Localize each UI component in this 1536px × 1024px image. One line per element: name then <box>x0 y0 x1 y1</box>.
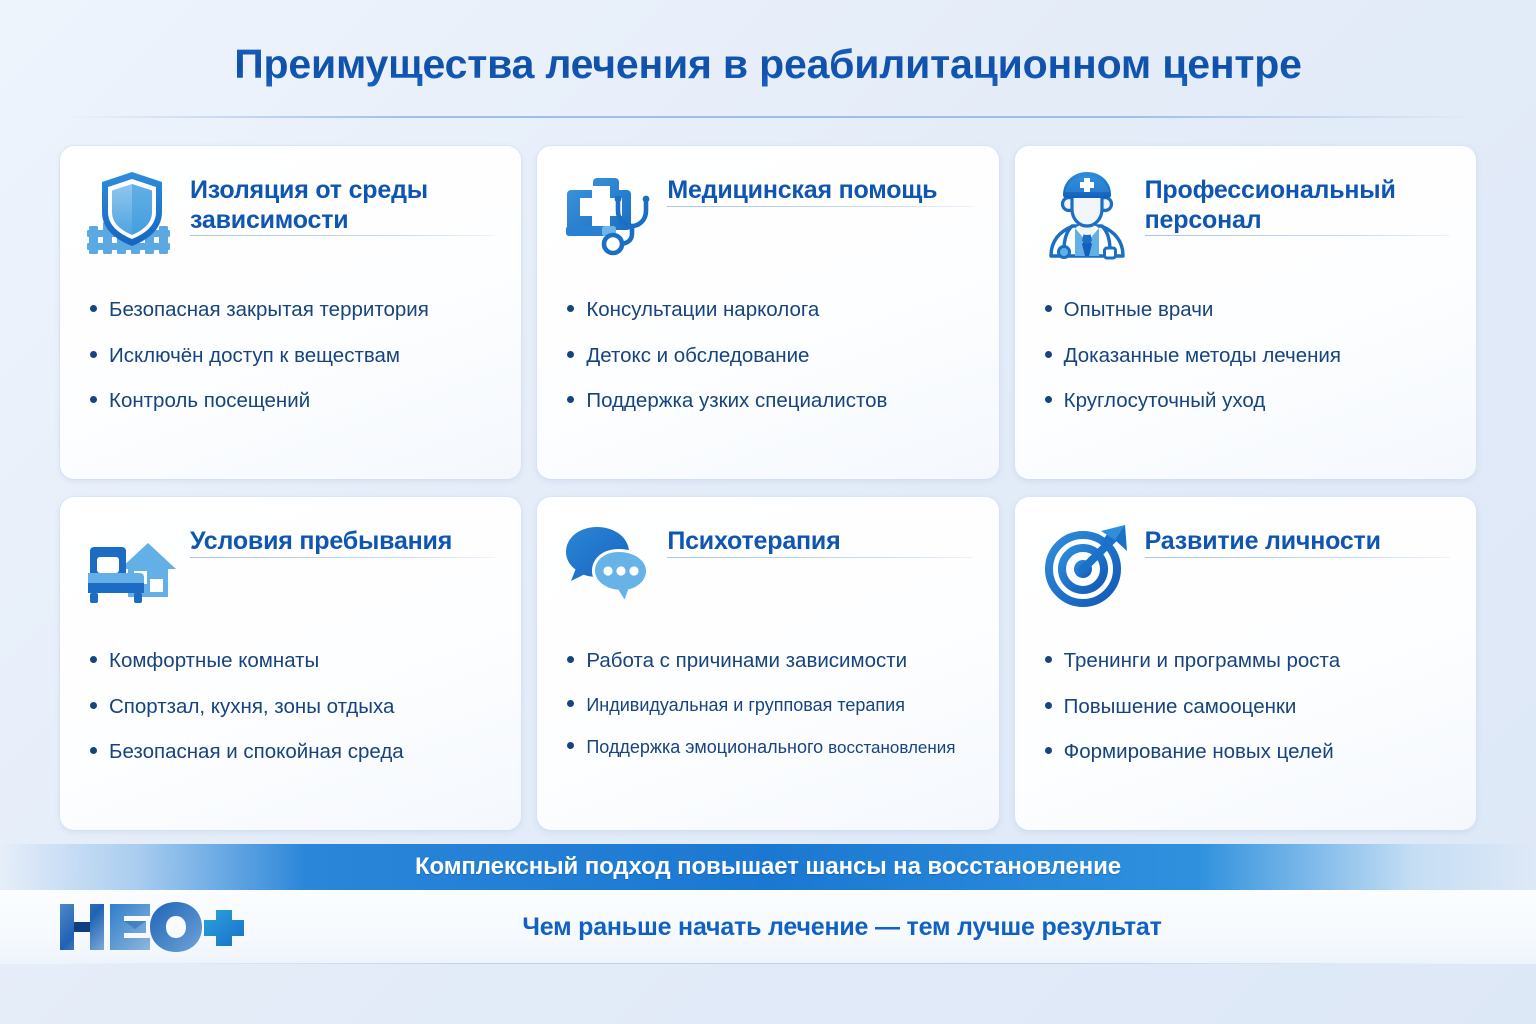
speech-bubbles-icon <box>563 519 655 611</box>
infographic-page: Преимущества лечения в реабилитационном … <box>0 0 1536 1024</box>
bullet-dot-icon <box>90 351 97 358</box>
list-item: Индивидуальная и групповая терапия <box>567 695 972 716</box>
card-divider <box>1145 235 1450 236</box>
card-title: Условия пребывания <box>190 527 495 557</box>
page-footer: Комплексный подход повышает шансы на вос… <box>0 838 1536 1024</box>
bullet-dot-icon <box>1045 351 1052 358</box>
card-title: Изоляция от среды зависимости <box>190 176 495 235</box>
card-title-wrap: Условия пребывания <box>190 519 495 558</box>
benefits-grid: Изоляция от среды зависимости Безопасная… <box>0 128 1536 838</box>
card-title: Развитие личности <box>1145 527 1450 557</box>
list-item-label: Доказанные методы лечения <box>1064 344 1341 368</box>
list-item: Комфортные комнаты <box>90 649 495 673</box>
card-title-wrap: Изоляция от среды зависимости <box>190 168 495 236</box>
card-title: Медицинская помощь <box>667 176 972 206</box>
card-title-wrap: Медицинская помощь <box>667 168 972 207</box>
list-item-label: Индивидуальная и групповая терапия <box>586 695 905 716</box>
list-item: Контроль посещений <box>90 389 495 413</box>
list-item: Поддержка узких специалистов <box>567 389 972 413</box>
page-header: Преимущества лечения в реабилитационном … <box>0 0 1536 128</box>
list-item-label-head: Поддержка эмоционального <box>586 737 828 757</box>
list-item: Консультации нарколога <box>567 298 972 322</box>
bullet-dot-icon <box>567 396 574 403</box>
list-item: Опытные врачи <box>1045 298 1450 322</box>
card-divider <box>667 557 972 558</box>
bullet-dot-icon <box>1045 702 1052 709</box>
bullet-dot-icon <box>567 742 574 749</box>
footer-body: Чем раньше начать лечение — тем лучше ре… <box>0 890 1536 964</box>
list-item: Безопасная закрытая территория <box>90 298 495 322</box>
footer-banner-text: Комплексный подход повышает шансы на вос… <box>415 853 1121 881</box>
benefit-card-personal-development[interactable]: Развитие личности Тренинги и программы р… <box>1015 497 1476 830</box>
doctor-icon <box>1041 168 1133 260</box>
list-item-label: Консультации нарколога <box>586 298 819 322</box>
benefit-list: Опытные врачи Доказанные методы лечения … <box>1041 272 1450 413</box>
bullet-dot-icon <box>1045 656 1052 663</box>
benefit-card-professional-staff[interactable]: Профессиональный персонал Опытные врачи … <box>1015 146 1476 479</box>
list-item: Круглосуточный уход <box>1045 389 1450 413</box>
page-title: Преимущества лечения в реабилитационном … <box>234 41 1302 88</box>
list-item: Детокс и обследование <box>567 344 972 368</box>
benefit-list: Тренинги и программы роста Повышение сам… <box>1041 623 1450 764</box>
card-header: Профессиональный персонал <box>1041 168 1450 272</box>
list-item-label: Безопасная закрытая территория <box>109 298 429 322</box>
bullet-dot-icon <box>567 656 574 663</box>
benefit-card-living-conditions[interactable]: Условия пребывания Комфортные комнаты Сп… <box>60 497 521 830</box>
bullet-dot-icon <box>567 305 574 312</box>
footer-banner: Комплексный подход повышает шансы на вос… <box>0 844 1536 890</box>
card-title: Психотерапия <box>667 527 972 557</box>
bullet-dot-icon <box>1045 396 1052 403</box>
card-header: Психотерапия <box>563 519 972 623</box>
list-item: Поддержка эмоционального восстановления <box>567 737 972 758</box>
list-item: Безопасная и спокойная среда <box>90 740 495 764</box>
bullet-dot-icon <box>90 305 97 312</box>
list-item-label: Формирование новых целей <box>1064 740 1334 764</box>
list-item-label: Контроль посещений <box>109 389 310 413</box>
benefit-list: Безопасная закрытая территория Исключён … <box>86 272 495 413</box>
list-item: Повышение самооценки <box>1045 695 1450 719</box>
footer-tagline: Чем раньше начать лечение — тем лучше ре… <box>196 913 1488 942</box>
list-item-label: Поддержка узких специалистов <box>586 389 887 413</box>
list-item: Спортзал, кухня, зоны отдыха <box>90 695 495 719</box>
list-item-label: Повышение самооценки <box>1064 695 1297 719</box>
header-divider <box>60 116 1476 118</box>
card-header: Изоляция от среды зависимости <box>86 168 495 272</box>
card-divider <box>667 206 972 207</box>
card-header: Условия пребывания <box>86 519 495 623</box>
card-title: Профессиональный персонал <box>1145 176 1450 235</box>
benefit-card-isolation[interactable]: Изоляция от среды зависимости Безопасная… <box>60 146 521 479</box>
list-item-label: Детокс и обследование <box>586 344 809 368</box>
list-item-label: Круглосуточный уход <box>1064 389 1266 413</box>
list-item: Доказанные методы лечения <box>1045 344 1450 368</box>
list-item: Исключён доступ к веществам <box>90 344 495 368</box>
list-item: Работа с причинами зависимости <box>567 649 972 673</box>
card-divider <box>190 557 495 558</box>
target-arrow-icon <box>1041 519 1133 611</box>
bullet-dot-icon <box>90 396 97 403</box>
card-title-wrap: Развитие личности <box>1145 519 1450 558</box>
list-item: Формирование новых целей <box>1045 740 1450 764</box>
list-item-label: Тренинги и программы роста <box>1064 649 1340 673</box>
list-item: Тренинги и программы роста <box>1045 649 1450 673</box>
list-item-label: Спортзал, кухня, зоны отдыха <box>109 695 394 719</box>
bullet-dot-icon <box>90 747 97 754</box>
bullet-dot-icon <box>567 700 574 707</box>
benefit-card-psychotherapy[interactable]: Психотерапия Работа с причинами зависимо… <box>537 497 998 830</box>
card-header: Медицинская помощь <box>563 168 972 272</box>
list-item-label-tail: восстановления <box>828 738 955 757</box>
card-title-wrap: Профессиональный персонал <box>1145 168 1450 236</box>
bullet-dot-icon <box>1045 747 1052 754</box>
card-divider <box>1145 557 1450 558</box>
bullet-dot-icon <box>1045 305 1052 312</box>
list-item-label: Опытные врачи <box>1064 298 1214 322</box>
benefit-card-medical-help[interactable]: Медицинская помощь Консультации нарколог… <box>537 146 998 479</box>
list-item-label: Безопасная и спокойная среда <box>109 740 404 764</box>
list-item-label: Работа с причинами зависимости <box>586 649 907 673</box>
bullet-dot-icon <box>90 656 97 663</box>
benefit-list: Комфортные комнаты Спортзал, кухня, зоны… <box>86 623 495 764</box>
card-title-wrap: Психотерапия <box>667 519 972 558</box>
list-item-label: Поддержка эмоционального восстановления <box>586 737 955 758</box>
bed-house-icon <box>86 519 178 611</box>
card-header: Развитие личности <box>1041 519 1450 623</box>
list-item-label: Комфортные комнаты <box>109 649 319 673</box>
benefit-list: Работа с причинами зависимости Индивидуа… <box>563 623 972 758</box>
benefit-list: Консультации нарколога Детокс и обследов… <box>563 272 972 413</box>
bullet-dot-icon <box>90 702 97 709</box>
shield-fence-icon <box>86 168 178 260</box>
card-divider <box>190 235 495 236</box>
medical-bag-stethoscope-icon <box>563 168 655 260</box>
bullet-dot-icon <box>567 351 574 358</box>
list-item-label: Исключён доступ к веществам <box>109 344 400 368</box>
